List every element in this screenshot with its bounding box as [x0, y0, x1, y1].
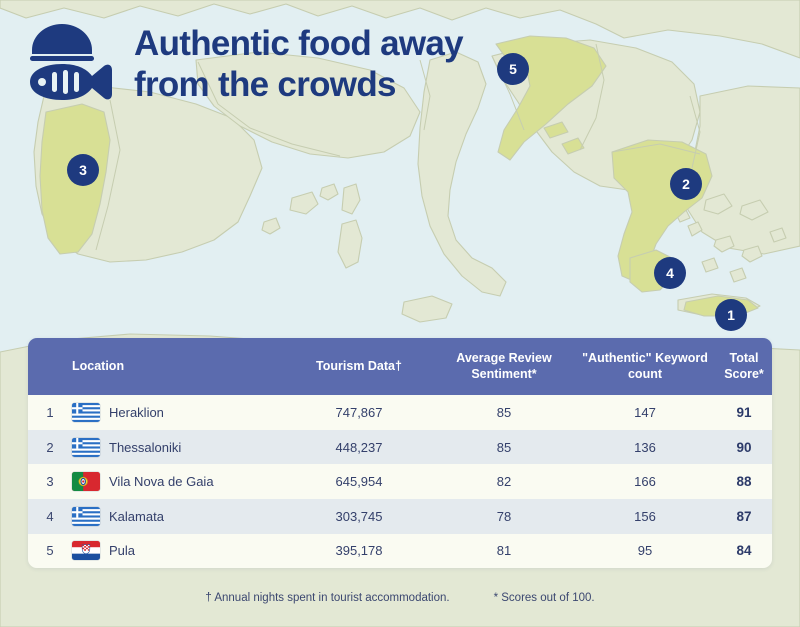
cell-rank: 4: [28, 499, 72, 534]
location-name: Pula: [109, 543, 135, 558]
cell-location: Kalamata: [72, 499, 284, 534]
cell-tourism-data: 448,237: [284, 430, 434, 465]
location-name: Vila Nova de Gaia: [109, 474, 214, 489]
cell-total-score: 88: [716, 464, 772, 499]
table-row[interactable]: 2 Thessaloniki 448,237 85: [28, 430, 772, 465]
map-marker-2[interactable]: 2: [670, 168, 702, 200]
footnote-tourism-data: † Annual nights spent in tourist accommo…: [205, 592, 449, 604]
cell-average-review-sentiment: 82: [434, 464, 574, 499]
portugal-flag-icon: [72, 472, 100, 491]
footnotes: † Annual nights spent in tourist accommo…: [0, 592, 800, 604]
table-row[interactable]: 1 Heraklion 747,867 85 147: [28, 395, 772, 430]
page-header: Authentic food away from the crowds: [24, 18, 463, 106]
map-marker-4[interactable]: 4: [654, 257, 686, 289]
cell-total-score: 90: [716, 430, 772, 465]
cell-tourism-data: 747,867: [284, 395, 434, 430]
cell-authentic-keyword-count: 156: [574, 499, 716, 534]
cell-average-review-sentiment: 81: [434, 534, 574, 569]
cell-tourism-data: 303,745: [284, 499, 434, 534]
column-header-sentiment: Average Review Sentiment*: [434, 338, 574, 395]
cell-location: Vila Nova de Gaia: [72, 464, 284, 499]
cell-rank: 2: [28, 430, 72, 465]
column-header-keyword: "Authentic" Keyword count: [574, 338, 716, 395]
cell-total-score: 84: [716, 534, 772, 569]
cell-tourism-data: 395,178: [284, 534, 434, 569]
cell-tourism-data: 645,954: [284, 464, 434, 499]
page-title: Authentic food away from the crowds: [134, 18, 463, 105]
cell-authentic-keyword-count: 147: [574, 395, 716, 430]
column-header-tourism: Tourism Data†: [284, 338, 434, 395]
column-header-location: Location: [72, 338, 284, 395]
cell-average-review-sentiment: 85: [434, 430, 574, 465]
bread-and-fish-icon: [24, 18, 116, 106]
cell-total-score: 91: [716, 395, 772, 430]
cell-authentic-keyword-count: 166: [574, 464, 716, 499]
cell-total-score: 87: [716, 499, 772, 534]
cell-average-review-sentiment: 85: [434, 395, 574, 430]
cell-location: Pula: [72, 534, 284, 569]
cell-authentic-keyword-count: 95: [574, 534, 716, 569]
croatia-flag-icon: [72, 541, 100, 560]
footnote-scores: * Scores out of 100.: [494, 592, 595, 604]
table-row[interactable]: 5 Pula: [28, 534, 772, 569]
column-header-total: Total Score*: [716, 338, 772, 395]
map-marker-5[interactable]: 5: [497, 53, 529, 85]
location-name: Heraklion: [109, 405, 164, 420]
cell-location: Thessaloniki: [72, 430, 284, 465]
map-marker-3[interactable]: 3: [67, 154, 99, 186]
map-marker-1[interactable]: 1: [715, 299, 747, 331]
table-row[interactable]: 4 Kalamata 303,745 78 156: [28, 499, 772, 534]
location-name: Thessaloniki: [109, 440, 181, 455]
table-header-row: Location Tourism Data† Average Review Se…: [28, 338, 772, 395]
cell-average-review-sentiment: 78: [434, 499, 574, 534]
table-row[interactable]: 3 Vila Nova de Gaia 645,954 82 166 88: [28, 464, 772, 499]
greece-flag-icon: [72, 403, 100, 422]
column-header-rank: [28, 338, 72, 395]
rankings-table: Location Tourism Data† Average Review Se…: [28, 338, 772, 568]
cell-authentic-keyword-count: 136: [574, 430, 716, 465]
cell-rank: 1: [28, 395, 72, 430]
greece-flag-icon: [72, 507, 100, 526]
cell-rank: 5: [28, 534, 72, 569]
cell-location: Heraklion: [72, 395, 284, 430]
cell-rank: 3: [28, 464, 72, 499]
location-name: Kalamata: [109, 509, 164, 524]
greece-flag-icon: [72, 438, 100, 457]
